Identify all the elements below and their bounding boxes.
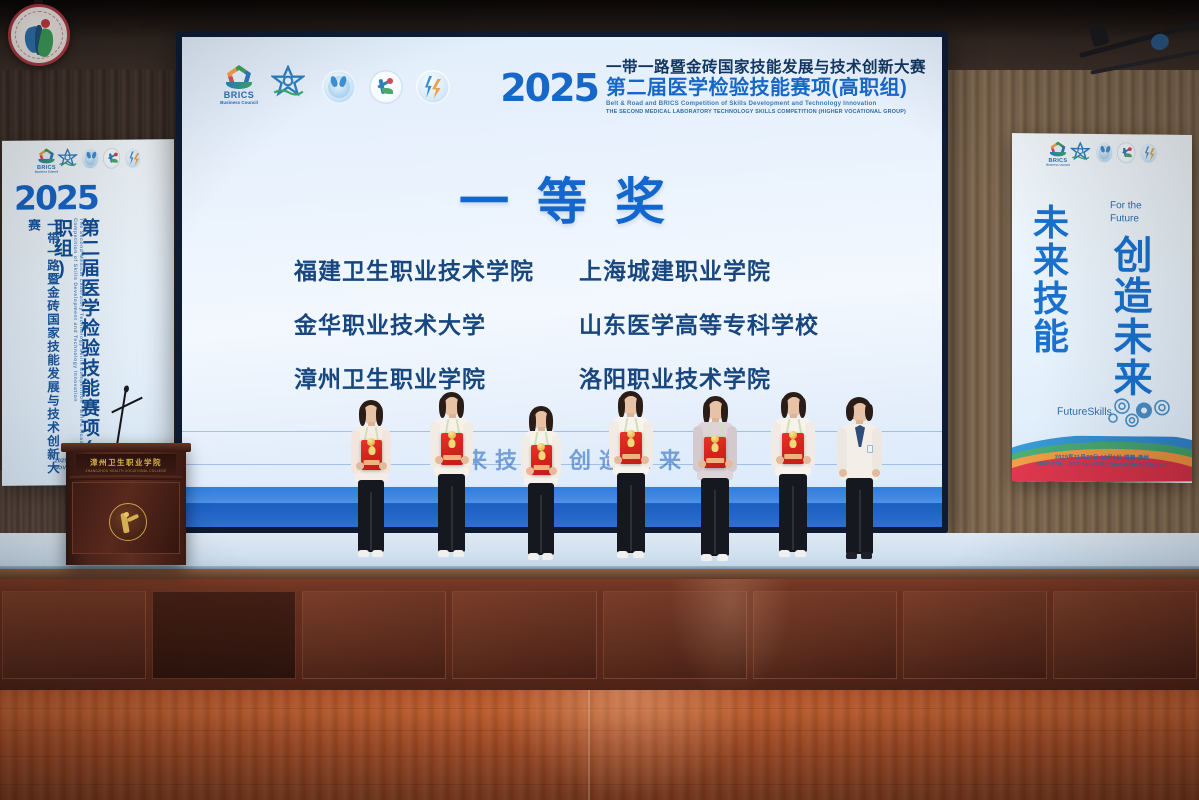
winner-item: 金华职业技术大学 [294,306,579,340]
white-circle-athlete-logo [103,148,120,169]
header-line-3: Belt & Road and BRICS Competition of Ski… [606,100,926,108]
screen-header: 2025 一带一路暨金砖国家技能发展与技术创新大赛 第二届医学检验技能赛项(高职… [500,59,926,117]
blue-orange-bolt-logo [124,147,141,168]
brics-star-emblem-logo [271,65,309,109]
brics-star-emblem-logo [58,148,78,175]
left-banner-vertical-sub: 一带一路暨金砖国家技能发展与技术创新大赛 [24,218,62,485]
blue-orange-bolt-logo [1139,142,1157,163]
winner-item: 福建卫生职业技术学院 [294,252,579,286]
right-banner-slogan-cn-1: 未来技能 [1030,203,1066,355]
person-awardee-5 [684,396,746,572]
person-awardee-2 [420,392,482,570]
brics-business-council-logo: BRICS Business Council [1046,141,1067,168]
id-badge [867,445,873,453]
winner-item: 山东医学高等专科学校 [579,306,874,340]
winner-item: 漳州卫生职业学院 [294,360,579,394]
person-awardee-4 [600,391,662,571]
white-circle-athlete-logo [369,70,403,104]
right-banner-date: 2025年11月27日-12月1日 福建·漳州 NOV 27th - DEC 1… [1012,452,1192,469]
stage-front-wall [0,579,1199,696]
header-line-4: THE SECOND MEDICAL LABORATORY TECHNOLOGY… [606,109,926,116]
right-banner-slogan-en-1: For the Future [1110,200,1168,226]
header-year: 2025 [500,69,598,107]
right-banner-logos: BRICS Business Council [1046,141,1158,169]
stage-front-glow [670,579,790,696]
brics-business-council-logo: BRICS Business Council [35,148,55,175]
left-banner-logos: BRICS Business Council [35,147,142,175]
lectern-nameplate: 漳州卫生职业学院 ZHANGZHOU HEALTH VOCATIONAL COL… [76,454,176,475]
header-line-1: 一带一路暨金砖国家技能发展与技术创新大赛 [606,59,926,76]
lectern-crest-icon [109,503,147,541]
lectern: 漳州卫生职业学院 ZHANGZHOU HEALTH VOCATIONAL COL… [66,443,186,565]
white-circle-athlete-logo [1117,142,1135,163]
blue-circle-emblem-logo [322,70,356,104]
person-awardee-6 [762,392,824,570]
right-banner: BRICS Business Council 未来技能 For the F [1012,133,1192,483]
person-awardee-3 [512,406,570,572]
winner-item: 上海城建职业学院 [579,252,874,286]
left-banner: BRICS Business Council 2025 第二届医学检验技能 [2,139,174,486]
screen-logo-strip: BRICS Business Council [220,65,450,109]
school-emblem-icon [8,4,70,66]
person-awardee-1 [340,400,400,570]
lectern-name-cn: 漳州卫生职业学院 [90,457,162,468]
award-title: 一等奖 [182,162,942,234]
ceremony-photo: BRICS Business Council 2025 第二届医学检验技能 [0,0,1199,800]
right-banner-slogan-cn-2: 创造未来 [1110,234,1149,398]
person-presenter [828,397,890,571]
left-banner-year: 2025 [14,178,98,218]
lectern-name-en: ZHANGZHOU HEALTH VOCATIONAL COLLEGE [86,469,167,473]
winner-item: 洛阳职业技术学院 [579,360,874,394]
blue-circle-emblem-logo [81,148,98,169]
brics-business-council-logo: BRICS Business Council [220,65,258,109]
blue-orange-bolt-logo [416,70,450,104]
gears-icon [1104,396,1178,431]
blue-circle-emblem-logo [1095,142,1113,163]
floor-reflection [500,690,760,800]
winner-list: 福建卫生职业技术学院 上海城建职业学院 金华职业技术大学 山东医学高等专科学校 … [294,252,874,394]
header-line-2: 第二届医学检验技能赛项(高职组) [606,77,926,99]
brics-star-emblem-logo [1071,142,1092,169]
